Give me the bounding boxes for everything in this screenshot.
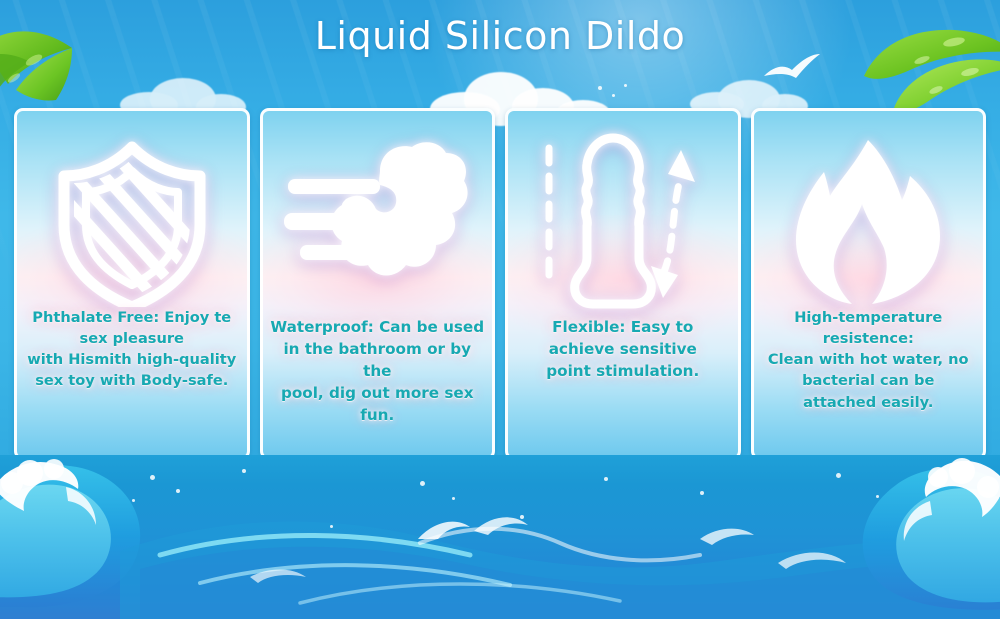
water-droplet (836, 473, 841, 478)
feature-card-flexible[interactable]: Flexible: Easy to achieve sensitive poin… (505, 108, 741, 460)
sparkle-icon (624, 84, 627, 87)
water-droplet (520, 515, 524, 519)
feature-card-phthalate-free[interactable]: Phthalate Free: Enjoy te sex pleasure wi… (14, 108, 250, 460)
ocean-background (0, 455, 1000, 619)
card-icon-slot (754, 127, 984, 317)
water-droplet (604, 477, 608, 481)
water-droplet (452, 497, 455, 500)
feature-card-waterproof[interactable]: Waterproof: Can be used in the bathroom … (260, 108, 496, 460)
card-icon-slot (508, 127, 738, 317)
card-icon-slot (17, 127, 247, 317)
infographic-banner: Liquid Silicon Dildo (0, 0, 1000, 619)
sparkle-icon (598, 86, 602, 90)
water-droplet (242, 469, 246, 473)
ocean-wave-icon (0, 455, 1000, 619)
water-droplet (132, 499, 135, 502)
water-splash-icon (284, 141, 470, 303)
feature-card-text: Flexible: Easy to achieve sensitive poin… (514, 316, 732, 382)
shield-icon (56, 137, 208, 307)
card-icon-slot (263, 127, 493, 317)
flexible-product-icon (535, 132, 711, 312)
feature-card-high-temperature[interactable]: High-temperature resistence: Clean with … (751, 108, 987, 460)
feature-card-text: Waterproof: Can be used in the bathroom … (269, 316, 487, 426)
page-title: Liquid Silicon Dildo (0, 14, 1000, 58)
water-droplet (150, 475, 155, 480)
water-droplet (420, 481, 425, 486)
feature-card-text: Phthalate Free: Enjoy te sex pleasure wi… (23, 307, 241, 392)
water-droplet (176, 489, 180, 493)
sparkle-icon (612, 94, 615, 97)
feature-card-text: High-temperature resistence: Clean with … (760, 307, 978, 413)
water-droplet (330, 525, 333, 528)
feature-card-list: Phthalate Free: Enjoy te sex pleasure wi… (14, 108, 986, 460)
water-droplet (700, 491, 704, 495)
flame-icon (788, 138, 948, 306)
water-droplet (876, 495, 879, 498)
